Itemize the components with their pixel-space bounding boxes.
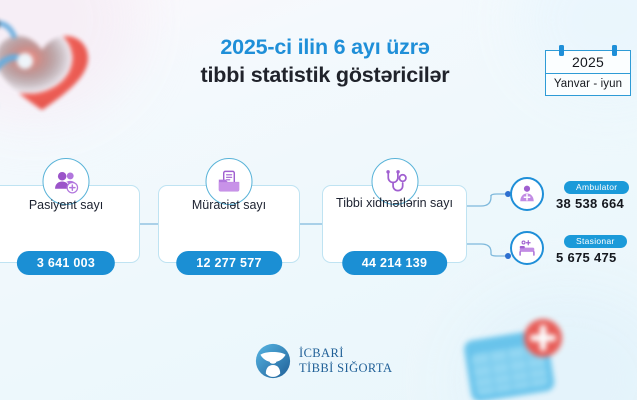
metric-card-value: 12 277 577 (176, 251, 282, 275)
metric-card-applications[interactable]: Müraciət sayı 12 277 577 (158, 185, 300, 263)
sub-metric-stasionar[interactable]: Stasionar 5 675 475 (510, 231, 627, 265)
sub-metric-body: Stasionar 5 675 475 (538, 231, 627, 265)
background-blob-bottom-right (457, 290, 637, 400)
title-line-2: tibbi statistik göstəricilər (140, 61, 510, 89)
sub-metric-body: Ambulator 38 538 664 (538, 177, 629, 211)
footer-logo[interactable]: İCBARİ TİBBİ SIĞORTA (255, 343, 392, 379)
footer-logo-line-2: TİBBİ SIĞORTA (299, 361, 392, 376)
background-blob-top-left (0, 0, 140, 120)
page-title: 2025-ci ilin 6 ayı üzrə tibbi statistik … (140, 33, 510, 90)
metric-card-patients[interactable]: Pasiyent sayı 3 641 003 (0, 185, 140, 263)
calendar-medical-cross-icon (449, 312, 579, 400)
sub-metric-tag: Ambulator (564, 181, 629, 194)
metric-card-medical-services[interactable]: Tibbi xidmətlərin sayı 44 214 139 (322, 185, 467, 263)
metric-card-value: 3 641 003 (17, 251, 115, 275)
metric-card-value: 44 214 139 (342, 251, 448, 275)
sub-metric-tag: Stasionar (564, 235, 627, 248)
infographic-canvas: 2025-ci ilin 6 ayı üzrə tibbi statistik … (0, 0, 637, 400)
outpatient-person-icon (510, 177, 544, 211)
hospital-bed-icon (510, 231, 544, 265)
metric-card-label: Müraciət sayı (159, 198, 299, 214)
sub-metric-value: 38 538 664 (548, 196, 629, 211)
heart-stethoscope-icon (0, 14, 114, 124)
date-range-badge: 2025 Yanvar - iyun (545, 50, 631, 96)
title-line-1: 2025-ci ilin 6 ayı üzrə (140, 33, 510, 61)
calendar-ring-right-icon (612, 45, 617, 56)
metric-card-label: Tibbi xidmətlərin sayı (323, 196, 466, 212)
metric-card-label: Pasiyent sayı (0, 198, 139, 214)
footer-logo-line-1: İCBARİ (299, 346, 392, 361)
footer-logo-text: İCBARİ TİBBİ SIĞORTA (299, 346, 392, 377)
sub-metric-value: 5 675 475 (548, 250, 627, 265)
icbari-tibbi-sigorta-logo-icon (255, 343, 291, 379)
date-badge-range: Yanvar - iyun (546, 74, 630, 95)
sub-metric-ambulator[interactable]: Ambulator 38 538 664 (510, 177, 629, 211)
calendar-ring-left-icon (559, 45, 564, 56)
